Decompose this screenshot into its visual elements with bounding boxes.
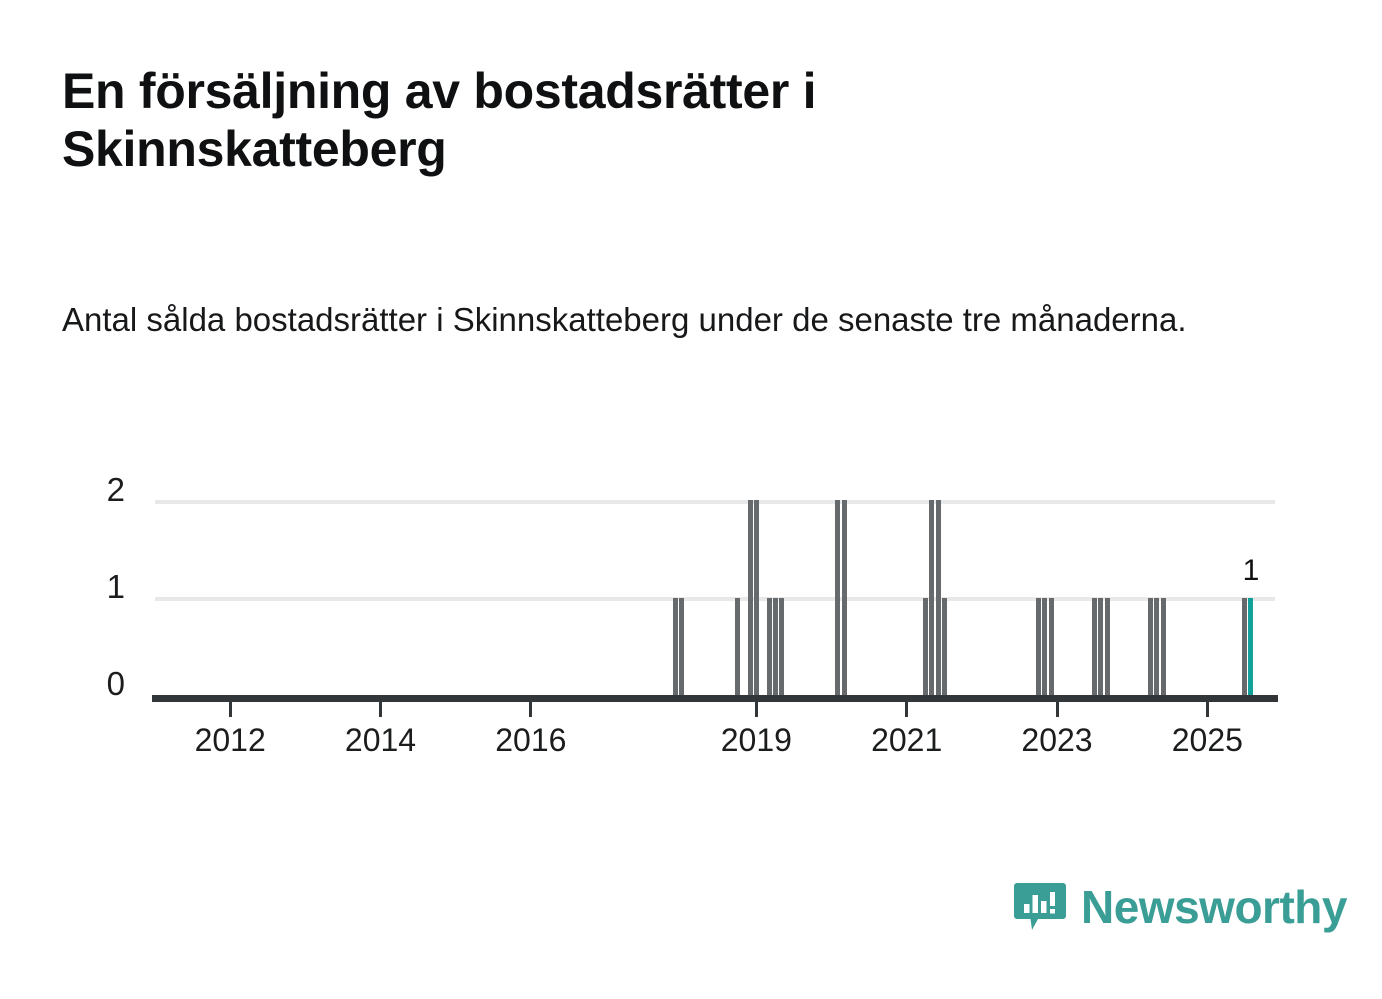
x-axis-tick-mark <box>1206 702 1209 717</box>
x-axis-line <box>152 695 1278 702</box>
x-axis-tick-mark <box>905 702 908 717</box>
bar <box>1042 598 1047 696</box>
newsworthy-logo: Newsworthy <box>1013 876 1347 938</box>
x-axis-tick-label: 2025 <box>1172 722 1243 759</box>
page-title: En försäljning av bostadsrätter i Skinns… <box>62 62 1122 178</box>
y-axis-tick-label-1: 1 <box>65 568 125 606</box>
plot-area: 2012201420162019202120232025 1 <box>155 500 1275 695</box>
x-axis-tick-mark <box>229 702 232 717</box>
logo-wordmark: Newsworthy <box>1081 884 1347 930</box>
highlight-bar-value-label: 1 <box>1243 554 1260 588</box>
bar <box>1092 598 1097 696</box>
bar <box>842 500 847 695</box>
x-axis-tick-mark <box>1056 702 1059 717</box>
bar <box>1036 598 1041 696</box>
bar <box>835 500 840 695</box>
x-axis-tick-label: 2012 <box>195 722 266 759</box>
bar <box>929 500 934 695</box>
bar-chart-speech-bubble-icon <box>1013 880 1067 934</box>
bar <box>923 598 928 696</box>
bar-chart: 2 1 0 2012201420162019202120232025 1 <box>155 492 1275 696</box>
bar <box>754 500 759 695</box>
x-axis-tick-mark <box>529 702 532 717</box>
bar <box>1105 598 1110 696</box>
infographic-page: En försäljning av bostadsrätter i Skinns… <box>0 0 1382 999</box>
x-axis-tick-label: 2016 <box>495 722 566 759</box>
bar <box>936 500 941 695</box>
x-axis-tick-label: 2021 <box>871 722 942 759</box>
x-axis-tick-mark <box>755 702 758 717</box>
x-axis-tick-label: 2019 <box>721 722 792 759</box>
bar <box>1154 598 1159 696</box>
bar <box>767 598 772 696</box>
bar-series <box>155 500 1275 695</box>
bar <box>1248 598 1253 696</box>
bar <box>773 598 778 696</box>
page-subtitle: Antal sålda bostadsrätter i Skinnskatteb… <box>62 298 1222 342</box>
bar <box>1161 598 1166 696</box>
bar <box>673 598 678 696</box>
bar <box>942 598 947 696</box>
bar <box>1049 598 1054 696</box>
bar <box>748 500 753 695</box>
x-axis-tick-mark <box>379 702 382 717</box>
bar <box>1148 598 1153 696</box>
y-axis-tick-label-0: 0 <box>65 665 125 703</box>
bar <box>735 598 740 696</box>
bar <box>1242 598 1247 696</box>
bar <box>779 598 784 696</box>
x-axis-tick-label: 2014 <box>345 722 416 759</box>
y-axis-tick-label-2: 2 <box>65 471 125 509</box>
bar <box>1098 598 1103 696</box>
x-axis-tick-label: 2023 <box>1021 722 1092 759</box>
bar <box>679 598 684 696</box>
